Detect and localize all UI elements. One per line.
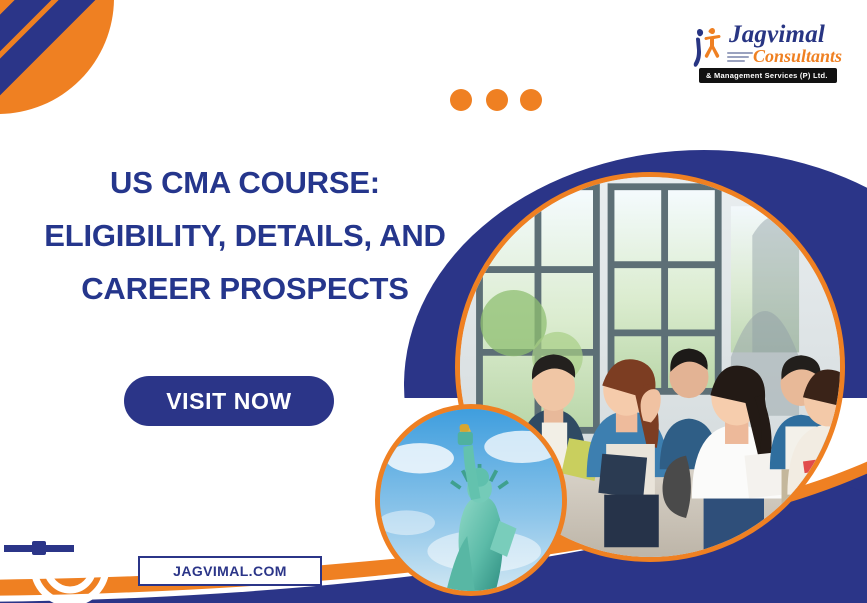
dot-icon-1: [450, 89, 472, 111]
briefcase-icon: [4, 513, 74, 573]
logo-tagline: & Management Services (P) Ltd.: [699, 68, 837, 83]
title-line-3: CAREER PROSPECTS: [0, 262, 490, 315]
dot-icon-2: [486, 89, 508, 111]
logo-lines-decoration: [727, 52, 753, 64]
promo-banner: Jagvimal Consultants & Management Servic…: [0, 0, 867, 603]
title-line-2: ELIGIBILITY, DETAILS, AND: [0, 209, 490, 262]
orange-dots-decoration: [450, 89, 544, 113]
page-title: US CMA COURSE: ELIGIBILITY, DETAILS, AND…: [0, 156, 490, 315]
logo-wordmark: Jagvimal: [729, 22, 825, 47]
liberty-photo-illustration: [380, 409, 562, 591]
dot-icon-3: [520, 89, 542, 111]
logo-subtitle: Consultants: [753, 47, 842, 65]
brand-logo[interactable]: Jagvimal Consultants & Management Servic…: [693, 22, 853, 84]
title-line-1: US CMA COURSE:: [0, 156, 490, 209]
statue-of-liberty-photo: [375, 404, 567, 596]
website-url-badge[interactable]: JAGVIMAL.COM: [138, 556, 322, 586]
jagvimal-mark-icon: [693, 26, 727, 68]
visit-now-button[interactable]: VISIT NOW: [124, 376, 334, 426]
briefcase-target-icon-cluster: [2, 495, 122, 603]
corner-decoration-top-left: [0, 0, 114, 114]
